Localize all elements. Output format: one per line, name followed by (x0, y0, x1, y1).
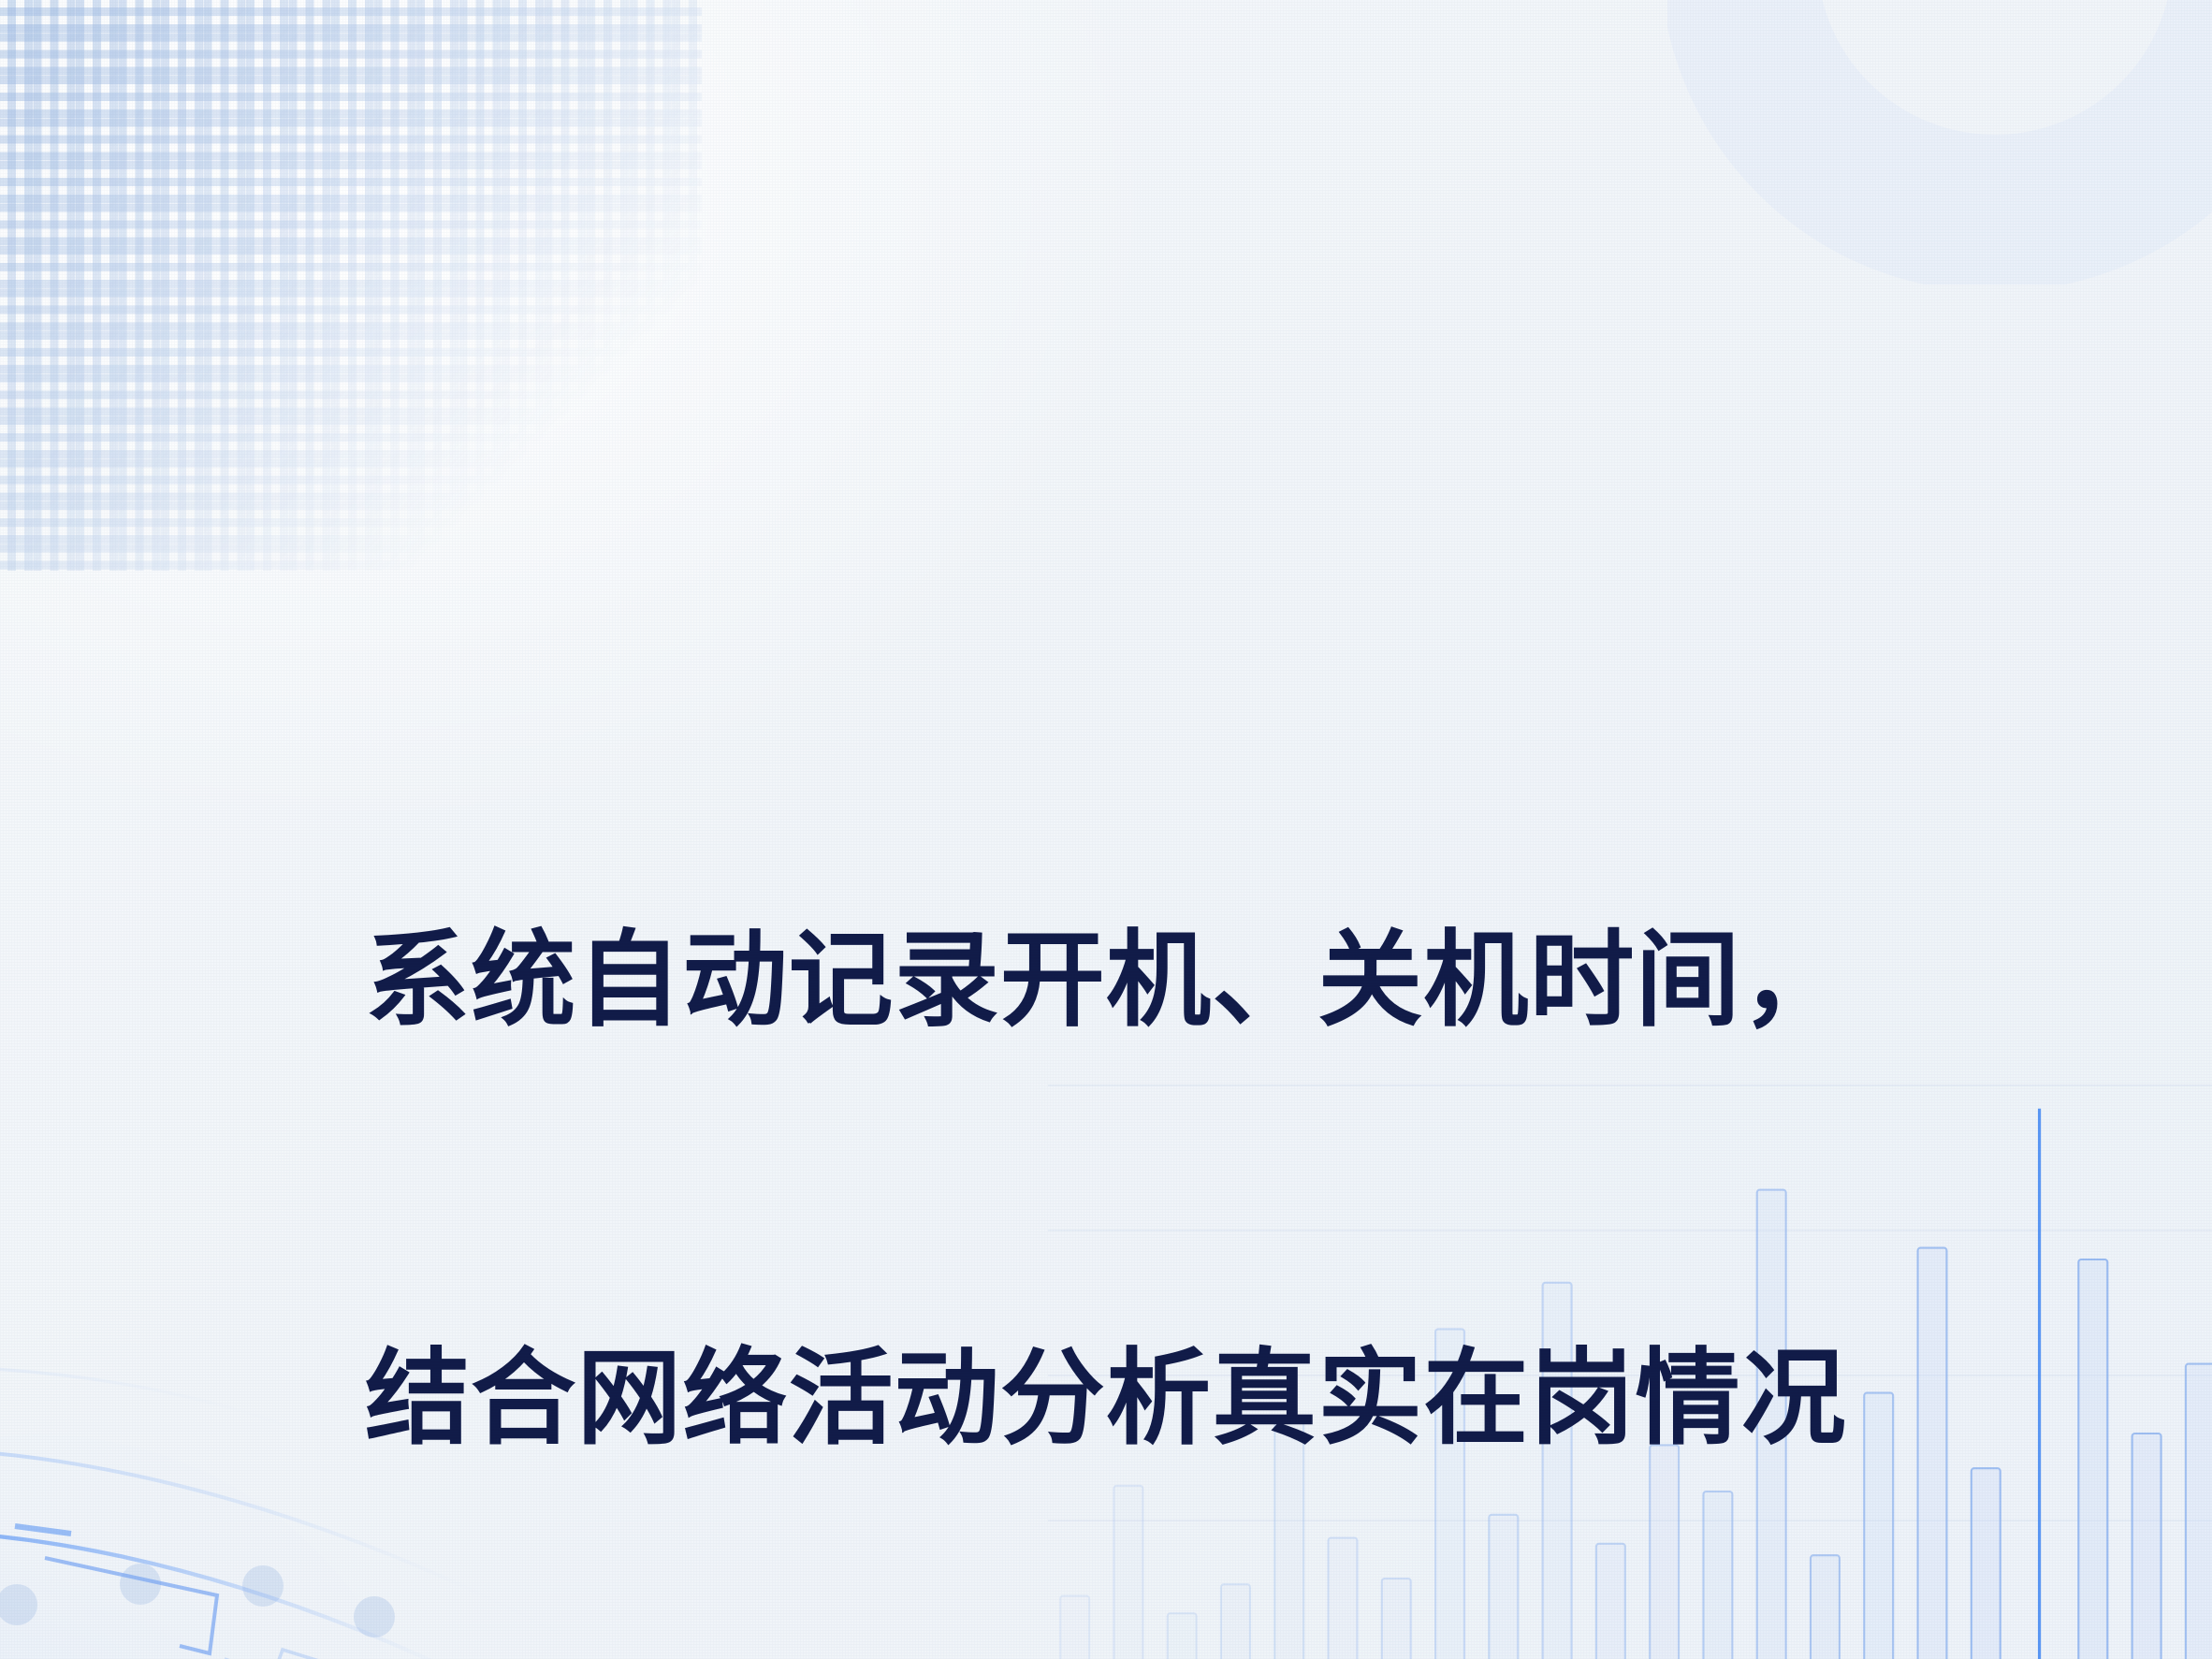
blue-gradient-ring (1667, 0, 2212, 284)
page-title: 系统自动记录开机、关机时间， 结合网络活动分析真实在岗情况 (0, 633, 2212, 1659)
headline-line-2: 结合网络活动分析真实在岗情况 (0, 1330, 2212, 1469)
slide-canvas: 系统自动记录开机、关机时间， 结合网络活动分析真实在岗情况 (0, 0, 2212, 1659)
blueprint-grid-pattern (0, 0, 702, 571)
headline-line-1: 系统自动记录开机、关机时间， (0, 911, 2212, 1051)
